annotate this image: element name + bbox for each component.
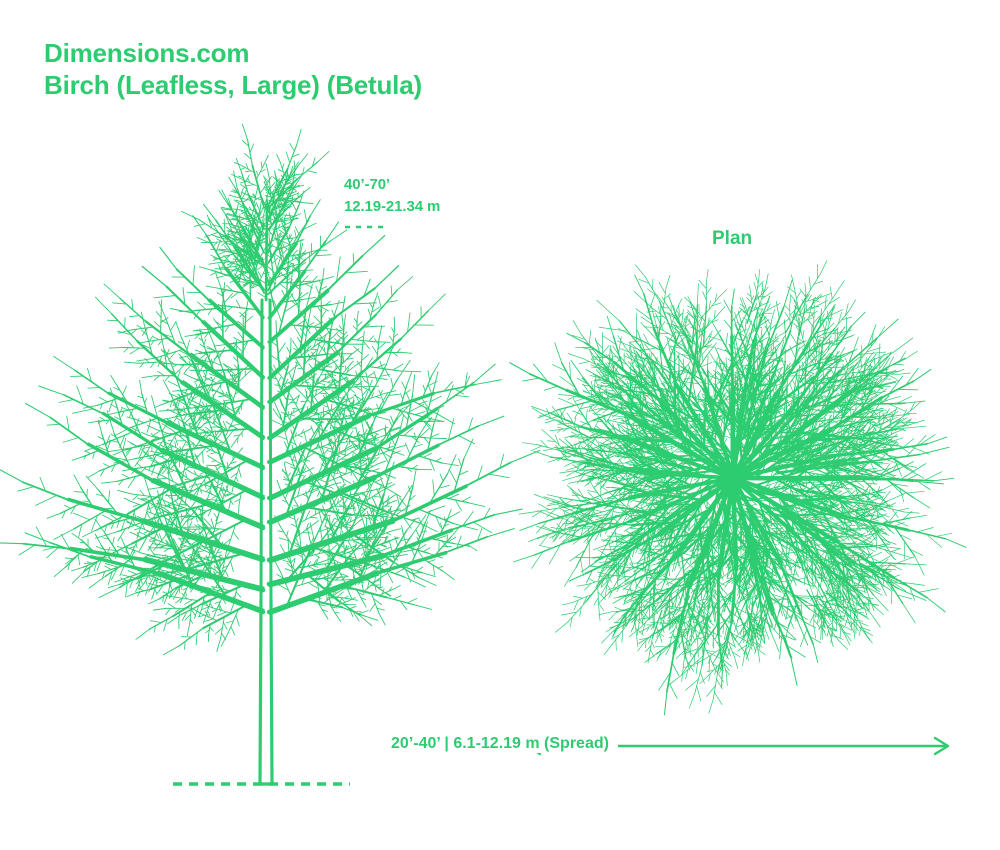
diagram-page: Dimensions.com Birch (Leafless, Large) (…	[0, 0, 1000, 850]
plan-tree-illustration	[510, 261, 966, 715]
tree-drawing	[0, 0, 1000, 850]
height-imperial: 40’-70’	[344, 174, 440, 196]
elevation-tree-illustration	[0, 124, 540, 784]
height-metric: 12.19-21.34 m	[344, 196, 440, 218]
height-dimension-label: 40’-70’ 12.19-21.34 m	[344, 174, 440, 218]
plan-view-label: Plan	[712, 228, 752, 250]
